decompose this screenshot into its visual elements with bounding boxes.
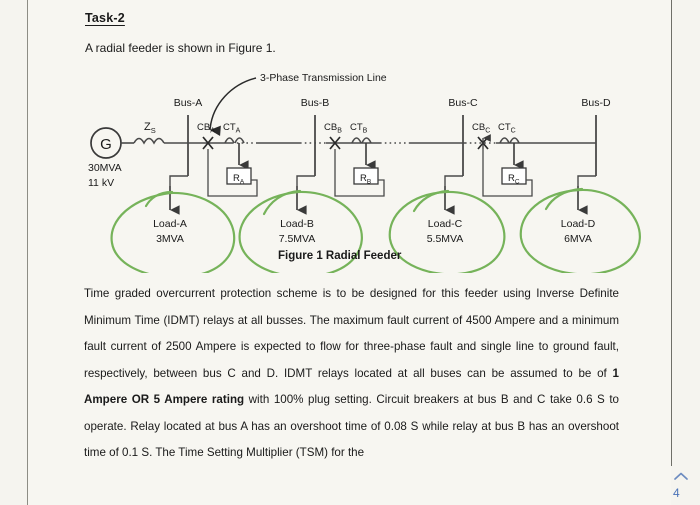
cb-label-b: CBB bbox=[324, 122, 342, 135]
chevron-up-icon[interactable] bbox=[672, 469, 690, 481]
bus-label-c: Bus-C bbox=[448, 97, 478, 109]
ct-label-b: CTB bbox=[350, 122, 368, 135]
page-number: 4 bbox=[673, 486, 680, 500]
generator-voltage: 11 kV bbox=[88, 177, 114, 189]
document-page: Task-2 A radial feeder is shown in Figur… bbox=[0, 0, 700, 505]
load-name-d: Load-D bbox=[561, 218, 596, 230]
body-paragraph: Time graded overcurrent protection schem… bbox=[84, 281, 619, 467]
radial-feeder-figure: 3-Phase Transmission Line Bus-A Bus-B Bu… bbox=[60, 68, 660, 273]
intro-text: A radial feeder is shown in Figure 1. bbox=[85, 41, 276, 55]
transmission-line-label: 3-Phase Transmission Line bbox=[260, 72, 387, 84]
ct-label-c: CTC bbox=[498, 122, 516, 135]
page-title: Task-2 bbox=[85, 11, 125, 25]
load-name-b: Load-B bbox=[280, 218, 314, 230]
load-name-c: Load-C bbox=[428, 218, 463, 230]
body-part-1: Time graded overcurrent protection schem… bbox=[84, 287, 619, 380]
source-impedance-label: ZS bbox=[144, 121, 156, 135]
bus-label-d: Bus-D bbox=[581, 97, 611, 109]
load-rating-d: 6MVA bbox=[564, 233, 592, 245]
load-rating-a: 3MVA bbox=[156, 233, 184, 245]
load-rating-b: 7.5MVA bbox=[279, 233, 316, 245]
generator-symbol: G bbox=[100, 136, 112, 153]
ct-label-a: CTA bbox=[223, 122, 241, 135]
figure-caption: Figure 1 Radial Feeder bbox=[278, 250, 401, 262]
page-edge-right bbox=[671, 0, 672, 466]
load-name-a: Load-A bbox=[153, 218, 187, 230]
bus-label-b: Bus-B bbox=[301, 97, 330, 109]
page-edge-left bbox=[27, 0, 28, 505]
cb-label-a: CBA bbox=[197, 122, 215, 135]
cb-label-c: CBC bbox=[472, 122, 490, 135]
generator-mva: 30MVA bbox=[88, 162, 122, 174]
bus-label-a: Bus-A bbox=[174, 97, 203, 109]
load-rating-c: 5.5MVA bbox=[427, 233, 464, 245]
